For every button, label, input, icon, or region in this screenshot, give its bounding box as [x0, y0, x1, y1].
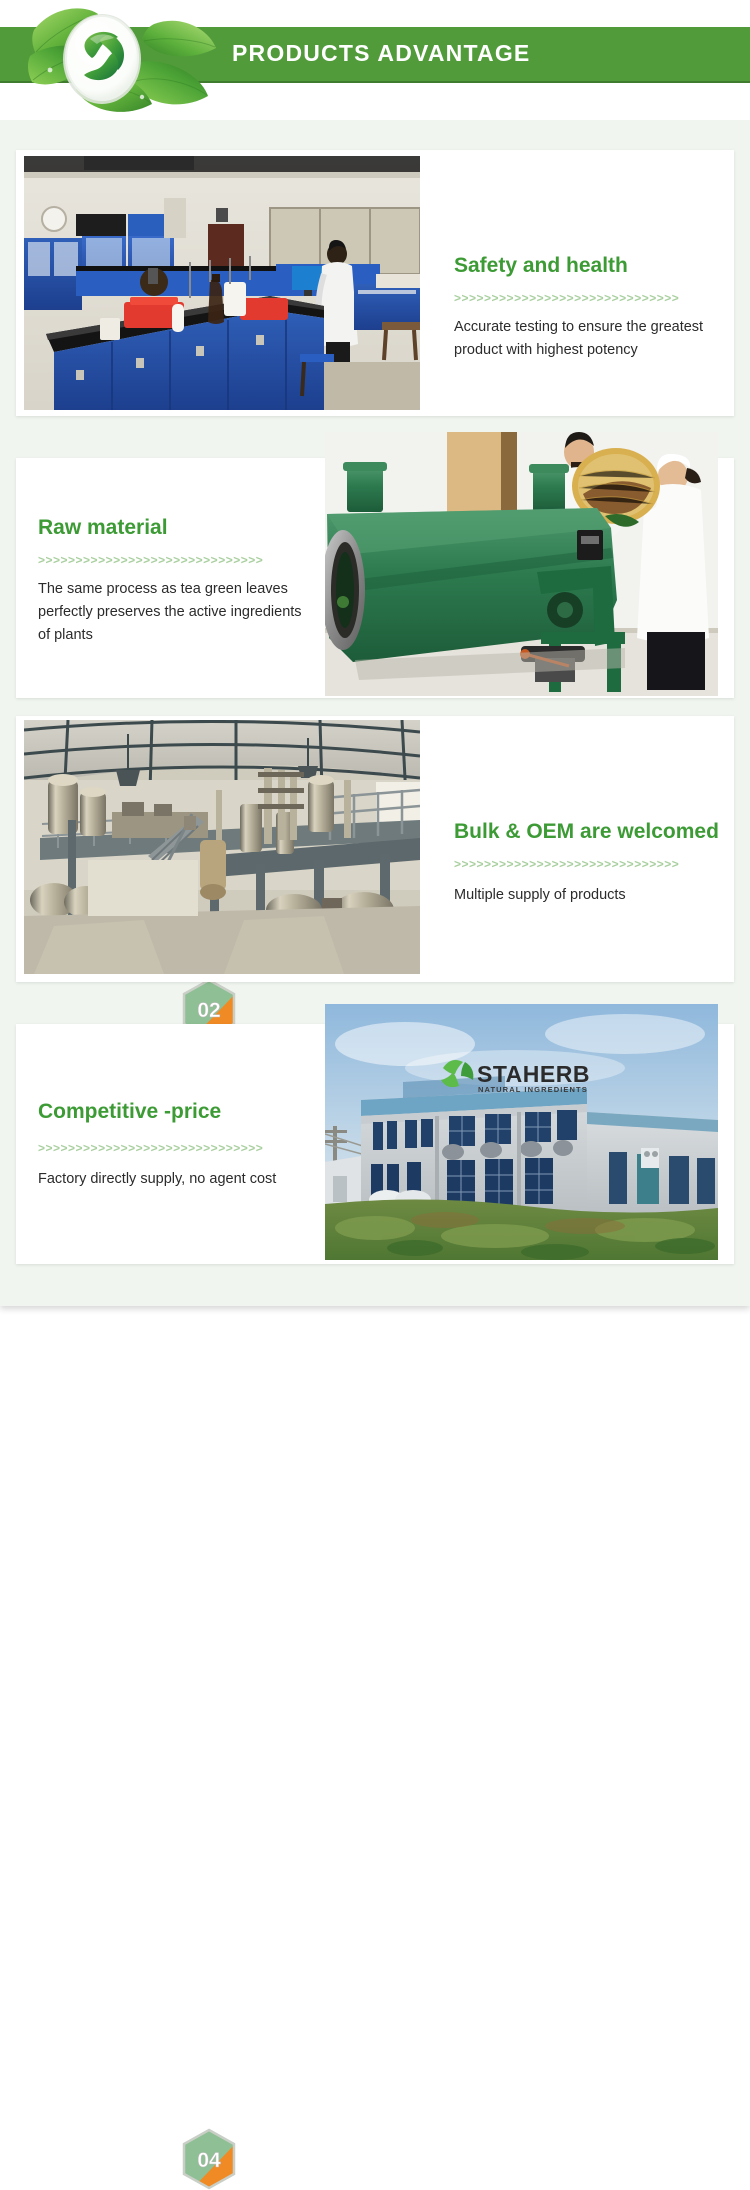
advantage-card-01-text: 01 Safety and health >>>>>>>>>>>>>>>>>>>… [454, 176, 718, 362]
tea-roasting-machine-photo [325, 432, 718, 696]
advantage-card-03-text: 03 Bulk & OEM are welcomed >>>>>>>>>>>>>… [454, 742, 720, 907]
svg-text:02: 02 [197, 999, 220, 1022]
chevron-divider-icon: >>>>>>>>>>>>>>>>>>>>>>>>>>>>>> [38, 1142, 318, 1154]
extraction-factory-interior-photo [24, 720, 420, 974]
svg-text:NATURAL INGREDIENTS: NATURAL INGREDIENTS [478, 1085, 588, 1094]
advantage-card-02-description: The same process as tea green leaves per… [38, 578, 316, 648]
advantage-card-02-title: Raw material [38, 516, 316, 540]
advantage-card-04-title: Competitive -price [38, 1100, 318, 1124]
chevron-divider-icon: >>>>>>>>>>>>>>>>>>>>>>>>>>>>>> [454, 858, 720, 870]
staherb-factory-building-photo: STAHERB NATURAL INGREDIENTS [325, 1004, 718, 1260]
advantage-card-03-description: Multiple supply of products [454, 884, 720, 907]
advantage-card-04-description: Factory directly supply, no agent cost [38, 1168, 318, 1191]
chevron-divider-icon: >>>>>>>>>>>>>>>>>>>>>>>>>>>>>> [38, 554, 316, 566]
badge-number-04: 04 [181, 2128, 237, 2190]
leaf-triangle-logo-icon [22, 0, 232, 120]
svg-text:04: 04 [197, 2149, 221, 2172]
advantage-card-04-text: 04 Competitive -price >>>>>>>>>>>>>>>>>>… [38, 1100, 318, 1191]
advantage-card-03-title: Bulk & OEM are welcomed [454, 820, 720, 844]
laboratory-photo [24, 156, 420, 410]
advantage-card-02-text: 02 Raw material >>>>>>>>>>>>>>>>>>>>>>>>… [38, 516, 316, 648]
svg-text:STAHERB: STAHERB [477, 1061, 590, 1087]
page-title: PRODUCTS ADVANTAGE [232, 40, 530, 67]
advantage-card-01-description: Accurate testing to ensure the greatest … [454, 316, 718, 363]
advantage-card-01-title: Safety and health [454, 254, 718, 278]
chevron-divider-icon: >>>>>>>>>>>>>>>>>>>>>>>>>>>>>> [454, 292, 718, 304]
page-header: PRODUCTS ADVANTAGE [0, 0, 750, 120]
products-advantage-page: PRODUCTS ADVANTAGE [0, 0, 750, 1326]
